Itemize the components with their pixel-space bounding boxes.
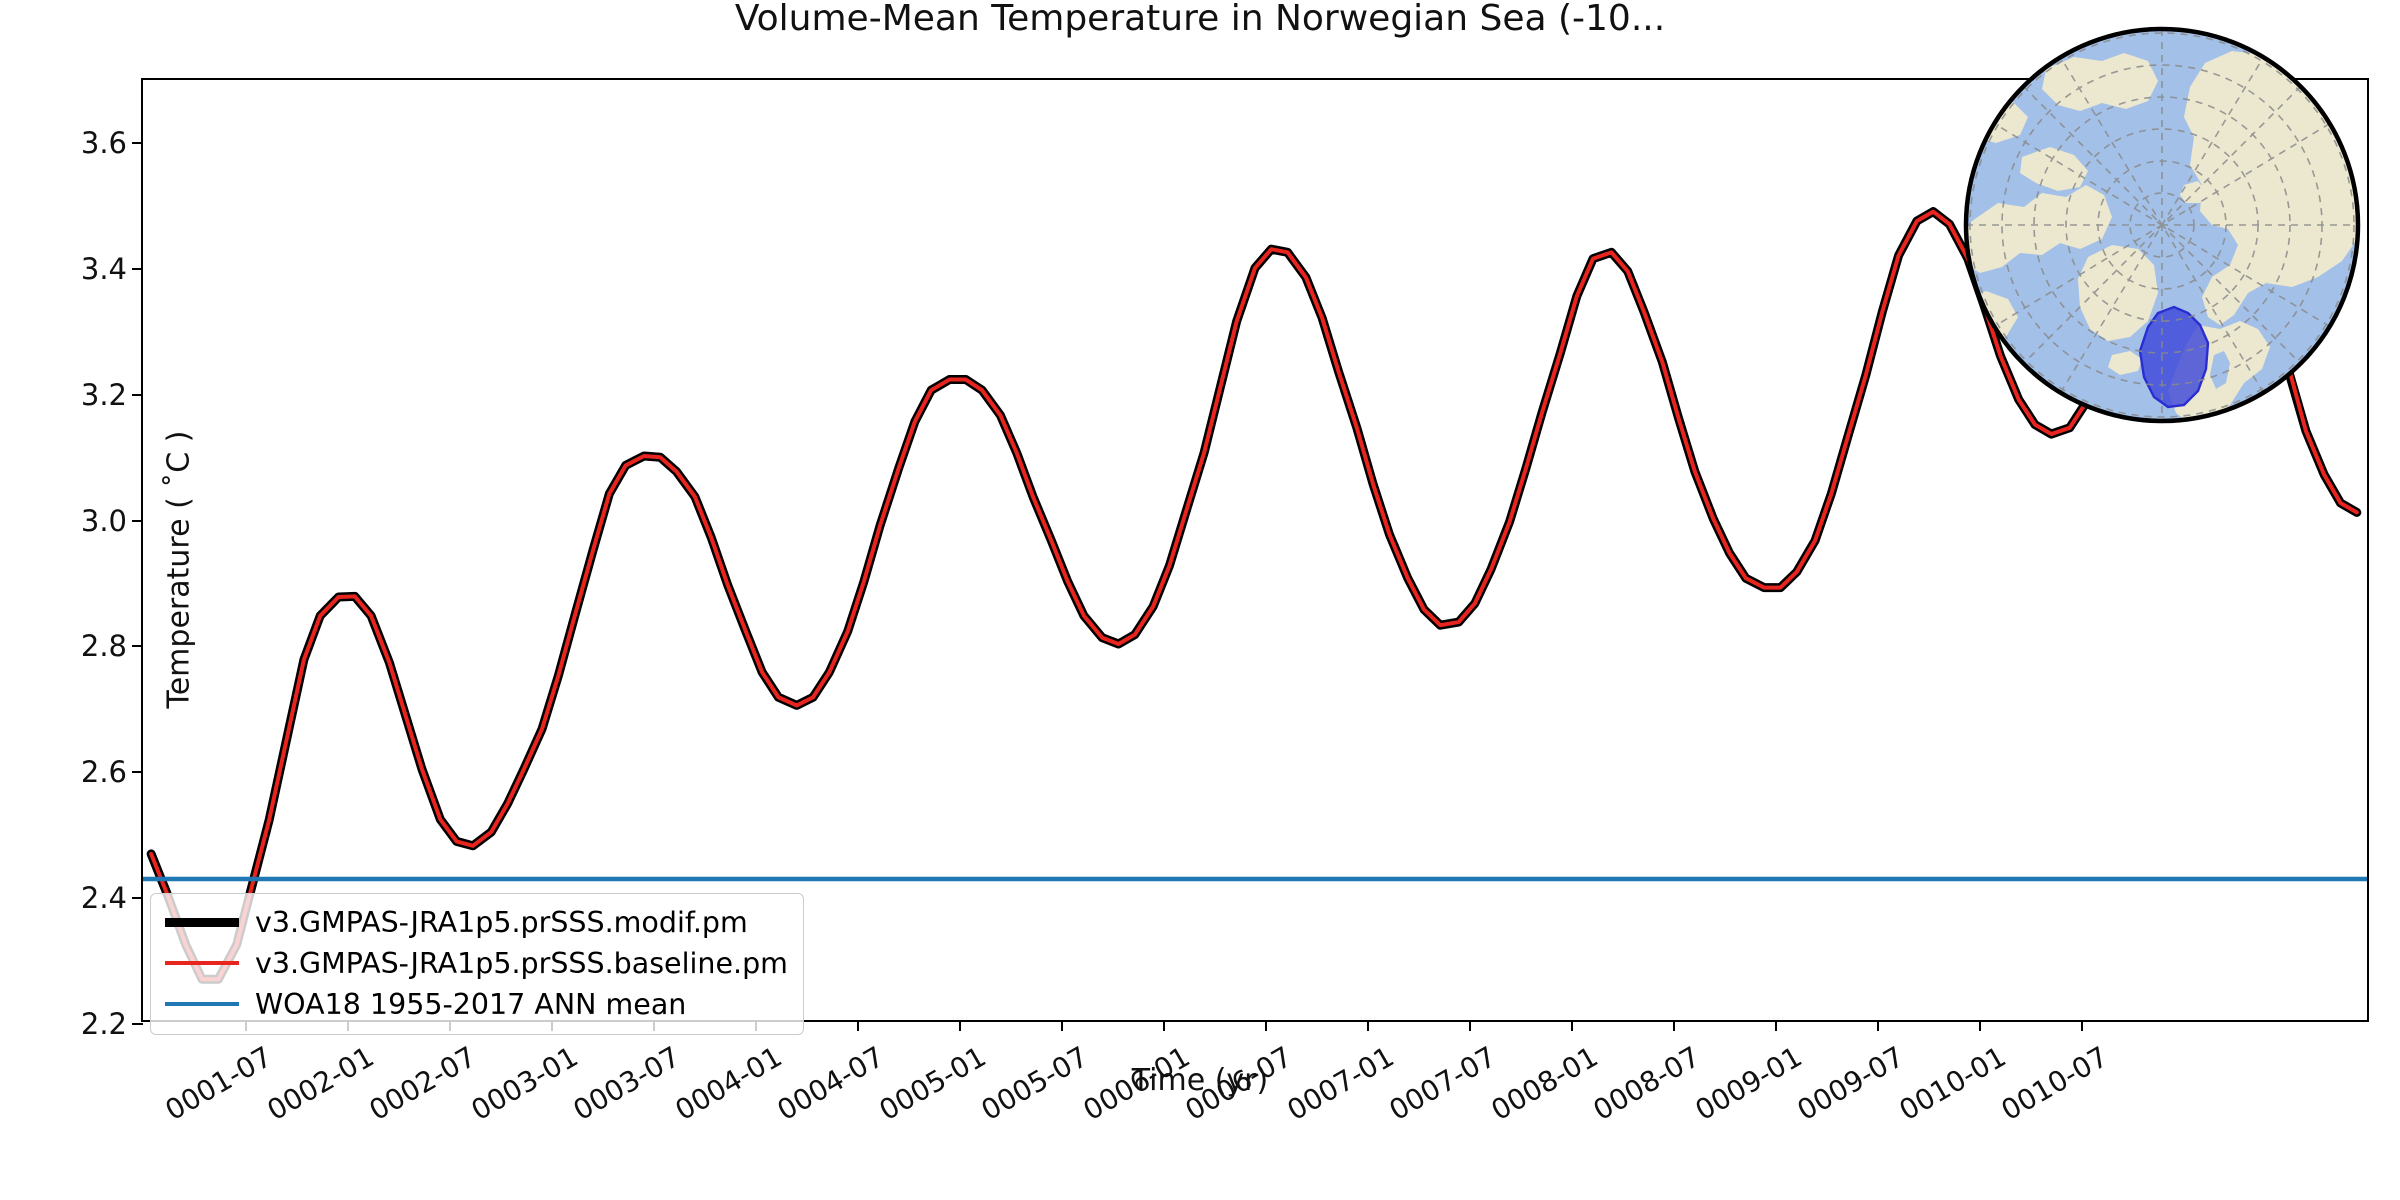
north-polar-region-map-icon bbox=[1962, 25, 2362, 425]
y-axis-tick-mark bbox=[132, 520, 143, 522]
legend-item[interactable]: v3.GMPAS-JRA1p5.prSSS.baseline.pm bbox=[165, 945, 789, 981]
y-axis-tick-mark bbox=[132, 645, 143, 647]
x-axis-tick-mark bbox=[959, 1020, 961, 1031]
figure-canvas: Volume-Mean Temperature in Norwegian Sea… bbox=[0, 0, 2400, 1200]
x-axis-tick-mark bbox=[1469, 1020, 1471, 1031]
x-axis-tick-mark bbox=[1979, 1020, 1981, 1031]
x-axis-tick-mark bbox=[1775, 1020, 1777, 1031]
legend-swatch-modif bbox=[165, 918, 239, 927]
x-axis-tick-mark bbox=[1367, 1020, 1369, 1031]
y-axis-tick-mark bbox=[132, 142, 143, 144]
legend-label-baseline: v3.GMPAS-JRA1p5.prSSS.baseline.pm bbox=[255, 947, 788, 980]
legend-label-modif: v3.GMPAS-JRA1p5.prSSS.modif.pm bbox=[255, 906, 748, 939]
y-axis-tick-mark bbox=[132, 897, 143, 899]
highlight-norwegian-sea bbox=[2140, 307, 2208, 407]
x-axis-tick-mark bbox=[1265, 1020, 1267, 1031]
legend-item[interactable]: WOA18 1955-2017 ANN mean bbox=[165, 986, 789, 1022]
legend-swatch-woa18 bbox=[165, 1002, 239, 1006]
legend-item[interactable]: v3.GMPAS-JRA1p5.prSSS.modif.pm bbox=[165, 904, 789, 940]
y-axis-tick-mark bbox=[132, 771, 143, 773]
legend-swatch-baseline bbox=[165, 961, 239, 965]
x-axis-tick-mark bbox=[857, 1020, 859, 1031]
legend-label-woa18: WOA18 1955-2017 ANN mean bbox=[255, 988, 686, 1021]
x-axis-tick-mark bbox=[1571, 1020, 1573, 1031]
x-axis-tick-mark bbox=[2081, 1020, 2083, 1031]
y-axis-tick-mark bbox=[132, 268, 143, 270]
y-axis-tick-mark bbox=[132, 1023, 143, 1025]
legend-box[interactable]: v3.GMPAS-JRA1p5.prSSS.modif.pm v3.GMPAS-… bbox=[150, 893, 804, 1035]
x-axis-tick-mark bbox=[1163, 1020, 1165, 1031]
x-axis-label: Time (yr) bbox=[0, 1063, 2400, 1098]
y-axis-tick-mark bbox=[132, 394, 143, 396]
x-axis-tick-mark bbox=[1877, 1020, 1879, 1031]
x-axis-tick-mark bbox=[1061, 1020, 1063, 1031]
polar-map-svg bbox=[1962, 25, 2362, 425]
x-axis-tick-mark bbox=[1673, 1020, 1675, 1031]
